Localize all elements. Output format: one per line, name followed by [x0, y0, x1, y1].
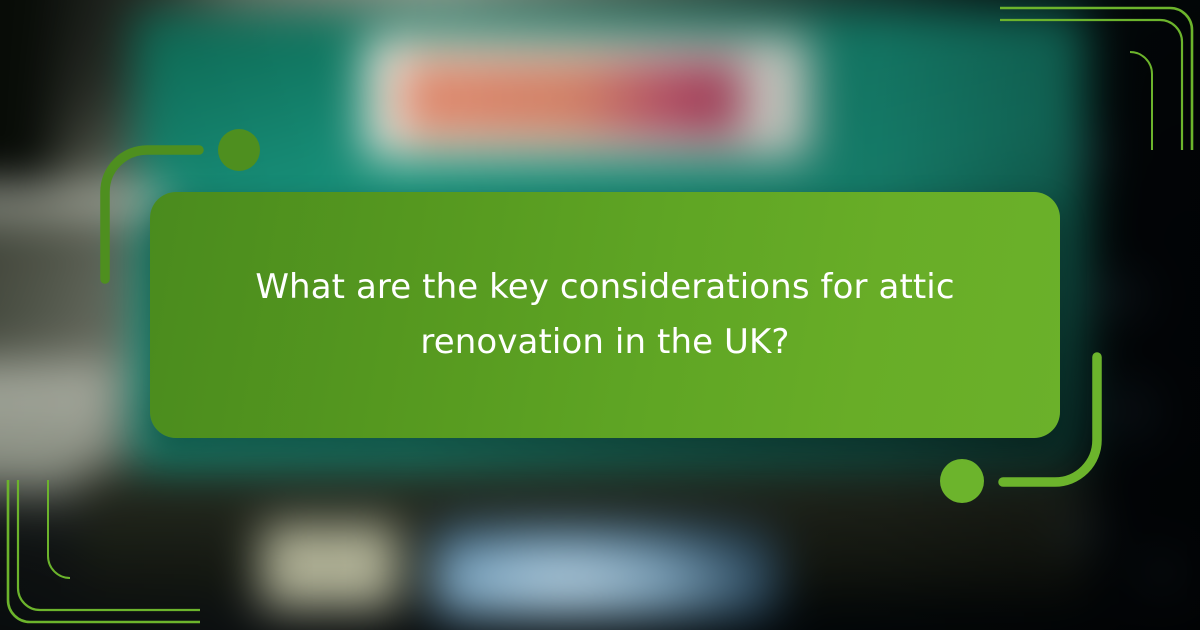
accent-dot-bottom-right-icon	[940, 459, 984, 503]
question-text: What are the key considerations for atti…	[255, 260, 955, 370]
question-card: What are the key considerations for atti…	[150, 192, 1060, 438]
elbow-bracket-bottom-right-icon	[994, 352, 1106, 492]
accent-dot-top-left-icon	[218, 129, 260, 171]
social-card-canvas: What are the key considerations for atti…	[0, 0, 1200, 630]
